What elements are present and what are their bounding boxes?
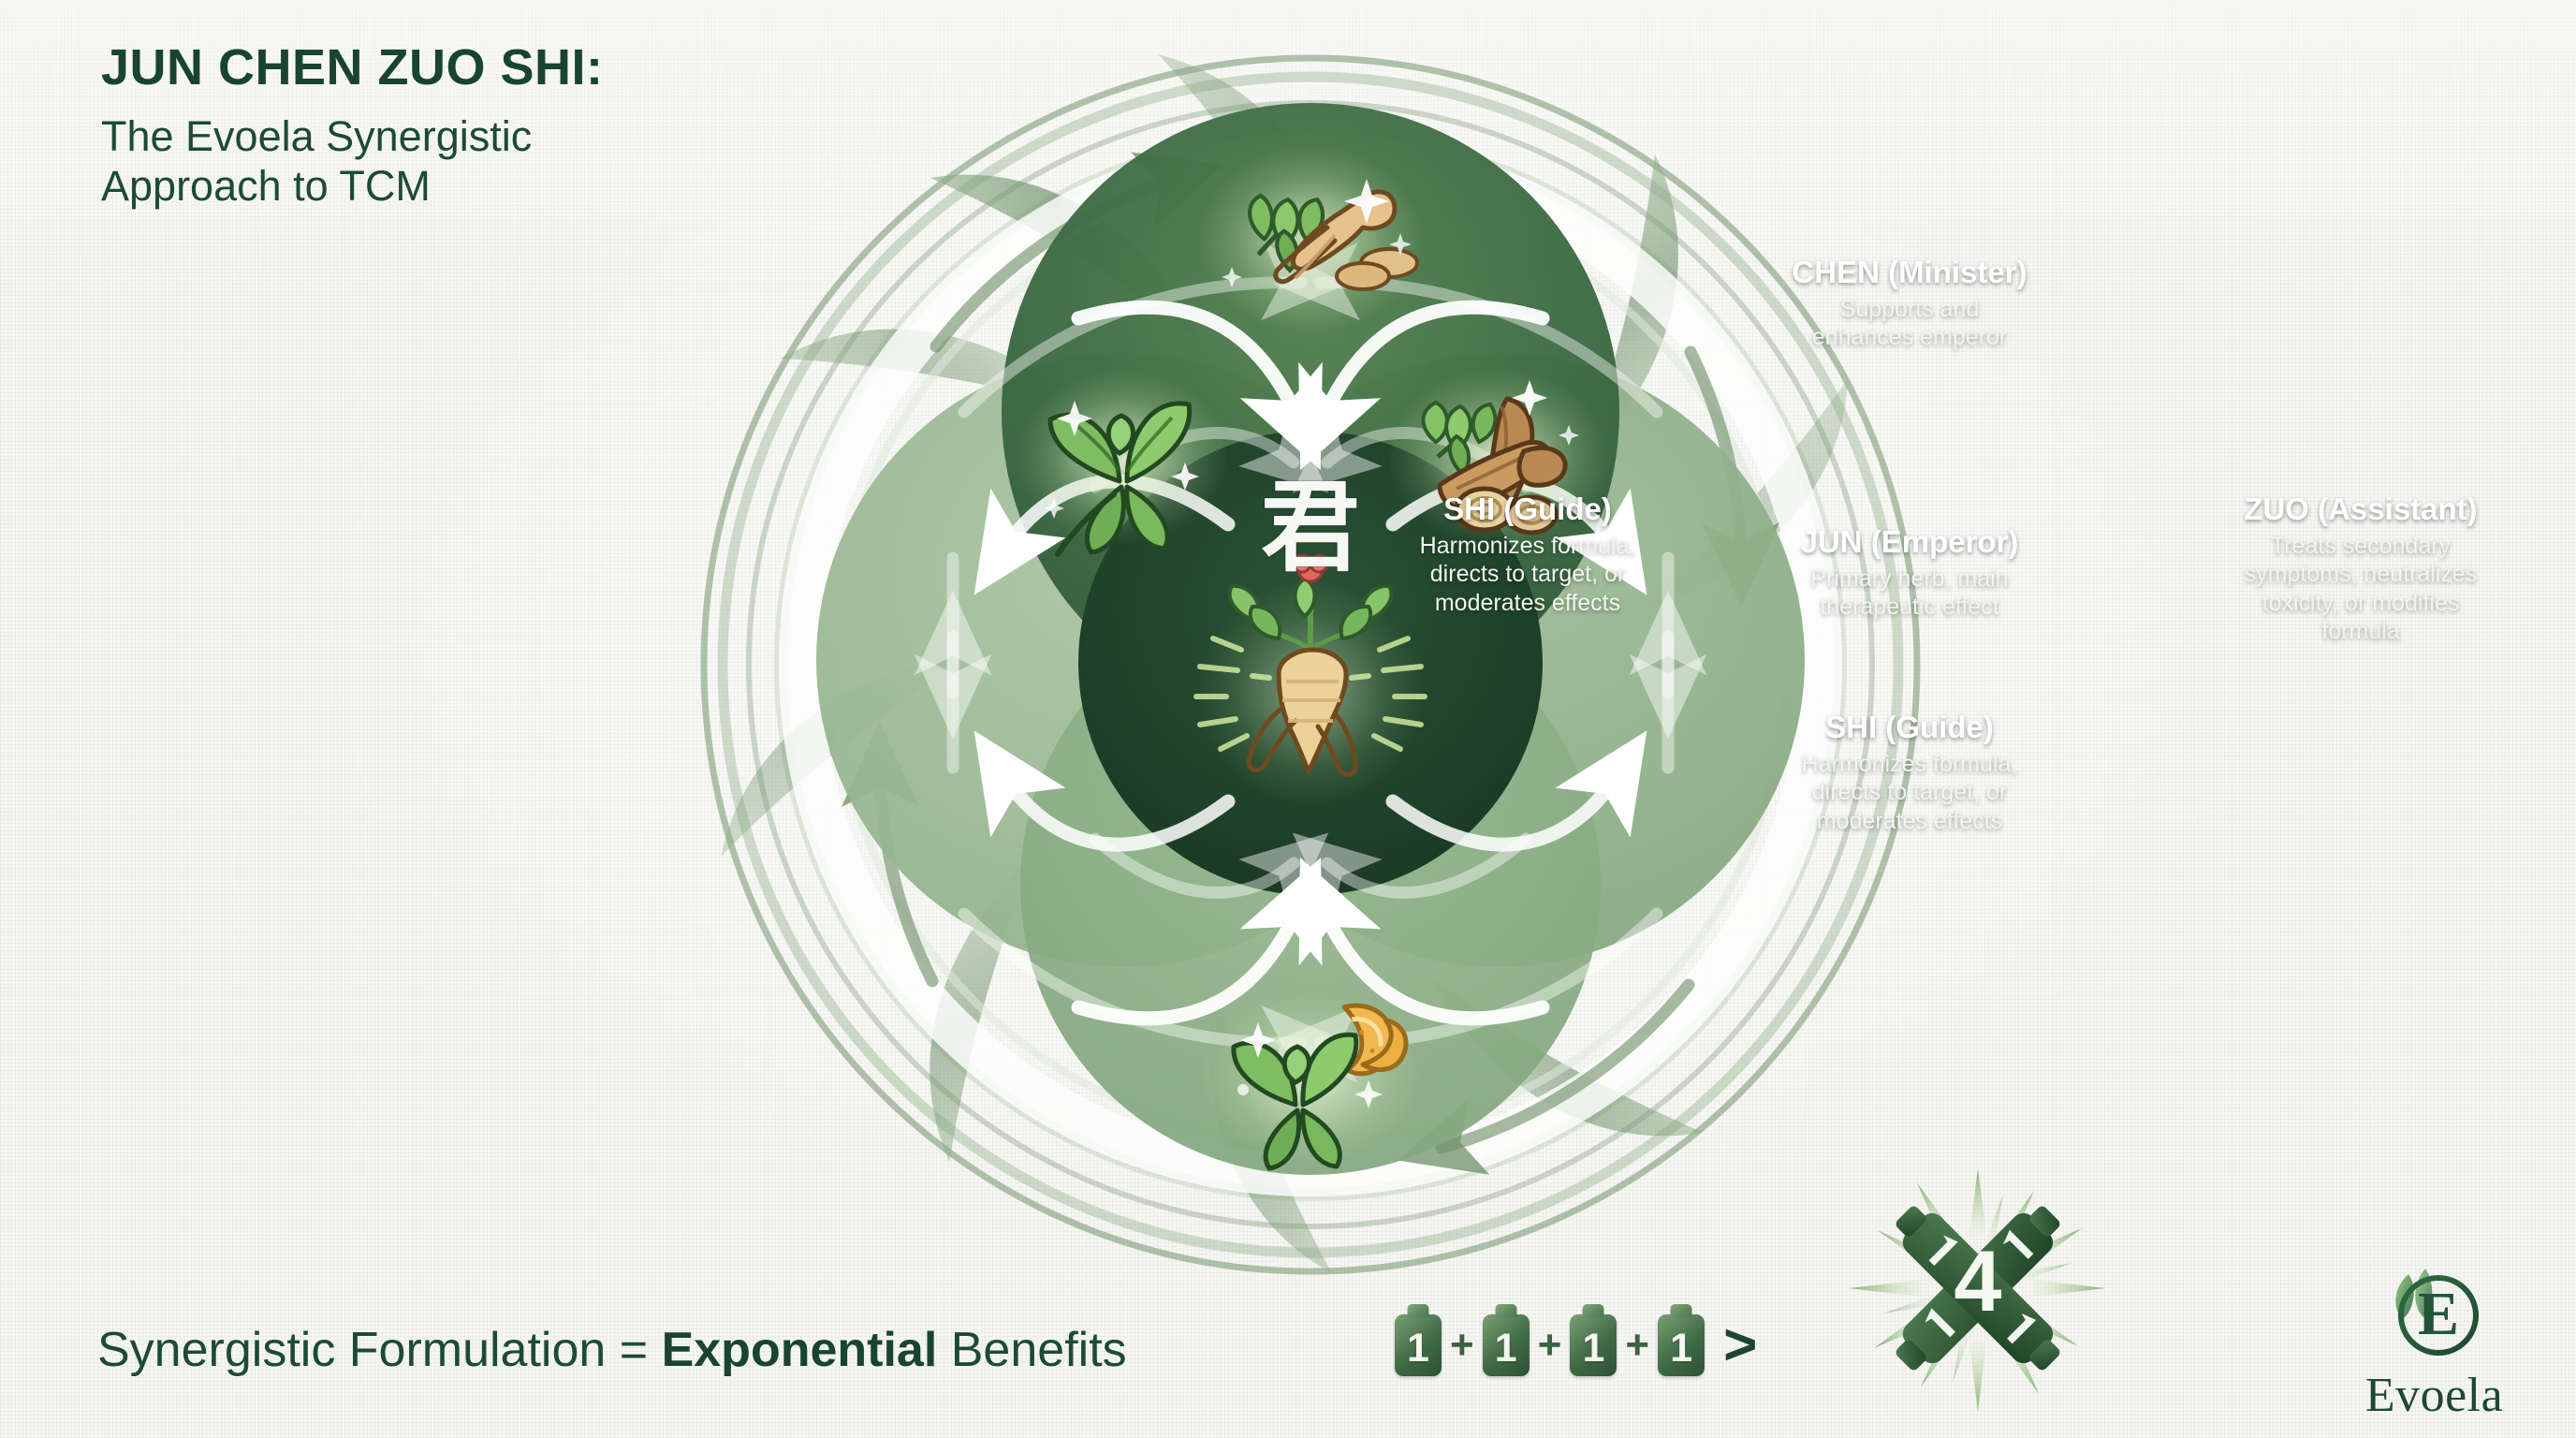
supplement-bottle-icon: 1 xyxy=(1483,1314,1529,1376)
subtitle-line-1: The Evoela Synergistic xyxy=(101,111,604,161)
plus-sign-1: + xyxy=(1450,1325,1474,1366)
tagline-emphasis: Exponential xyxy=(662,1323,938,1377)
supplement-bottle-icon: 1 xyxy=(1570,1314,1617,1376)
leaf-circle-E-logo: E xyxy=(2380,1267,2489,1372)
ginseng-root-with-leaves-icon xyxy=(1198,145,1423,332)
pill-value-1: 1 xyxy=(1407,1328,1429,1376)
node-desc-zuo: Treats secondarysymptoms, neutralizestox… xyxy=(2173,532,2548,646)
glowing-ginseng-plant-icon xyxy=(1196,555,1425,805)
plus-sign-2: + xyxy=(1538,1325,1562,1366)
tagline: Synergistic Formulation = Exponential Be… xyxy=(97,1322,1127,1378)
supplement-bottle-icon: 1 xyxy=(1395,1314,1442,1376)
pill-value-3: 1 xyxy=(1582,1328,1604,1376)
brand-logo[interactable]: E Evoela xyxy=(2334,1267,2535,1423)
footer: Synergistic Formulation = Exponential Be… xyxy=(0,1241,2576,1438)
title-block: JUN CHEN ZUO SHI: The Evoela Synergistic… xyxy=(101,41,604,211)
tagline-part2: Benefits xyxy=(937,1323,1126,1377)
jun-character: 君 xyxy=(1261,470,1360,585)
licorice-sticks-with-leaves-icon xyxy=(1387,369,1608,545)
burst-result-value: 4 xyxy=(1954,1234,2001,1329)
supplement-bottle-icon: 1 xyxy=(1658,1314,1705,1376)
tagline-part1: Synergistic Formulation = xyxy=(97,1323,662,1377)
starburst-icon: 4 xyxy=(1833,1165,2123,1417)
tcm-synergy-diagram: 君 CHEN (Minister) Supports andenhances e… xyxy=(655,37,1966,1292)
pill-value-2: 1 xyxy=(1495,1328,1517,1376)
pill-value-4: 1 xyxy=(1670,1328,1692,1376)
synergy-equation: 1 + 1 + 1 + 1 > xyxy=(1395,1314,1774,1376)
node-label-zuo: ZUO (Assistant) Treats secondarysymptoms… xyxy=(2173,492,2548,646)
node-title-zuo: ZUO (Assistant) xyxy=(2173,492,2548,527)
svg-text:E: E xyxy=(2417,1280,2458,1348)
plus-sign-3: + xyxy=(1625,1325,1649,1366)
greater-than-sign: > xyxy=(1723,1316,1757,1374)
diagram-svg: 君 xyxy=(655,37,1966,1292)
burst-rays: 4 xyxy=(1849,1168,2105,1412)
subtitle-line-2: Approach to TCM xyxy=(101,161,604,211)
page-title: JUN CHEN ZUO SHI: xyxy=(101,41,604,95)
brand-name: Evoela xyxy=(2334,1368,2535,1423)
